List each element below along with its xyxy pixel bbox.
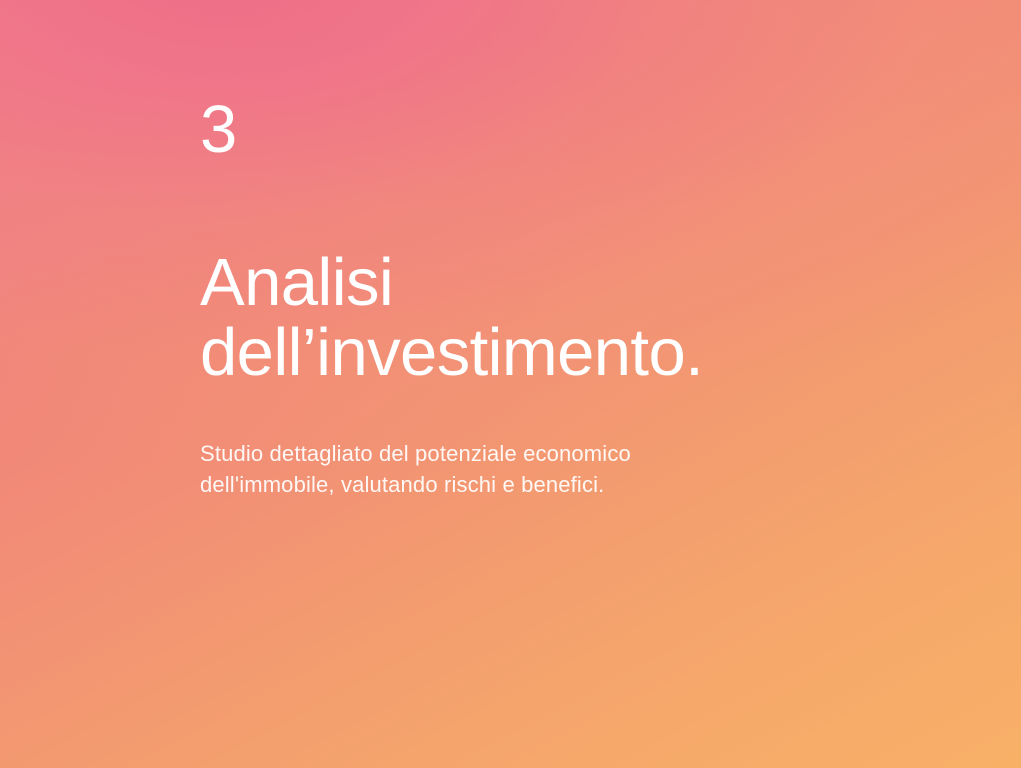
slide-title: Analisi dell’investimento. [200,248,960,388]
section-number: 3 [200,96,960,182]
presentation-slide: 3 Analisi dell’investimento. Studio dett… [0,0,1021,768]
slide-subtitle: Studio dettagliato del potenziale econom… [200,438,960,500]
slide-content: 3 Analisi dell’investimento. Studio dett… [200,96,960,500]
